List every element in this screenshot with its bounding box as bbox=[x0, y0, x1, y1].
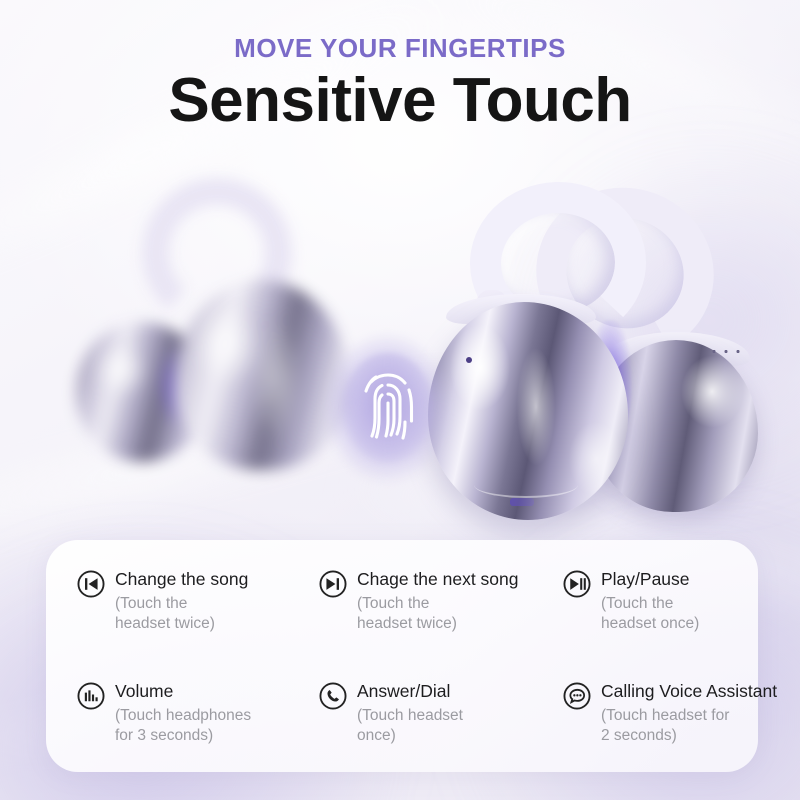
feature-item-voice-assistant: Calling Voice Assistant (Touch headset f… bbox=[562, 680, 777, 745]
feature-label: Play/Pause bbox=[601, 569, 690, 589]
feature-item-volume: Volume (Touch headphones for 3 seconds) bbox=[76, 680, 318, 745]
eyebrow-text: MOVE YOUR FINGERTIPS bbox=[0, 34, 800, 63]
voice-assistant-icon bbox=[562, 681, 592, 711]
feature-label: Chage the next song bbox=[357, 569, 519, 589]
product-poster: MOVE YOUR FINGERTIPS Sensitive Touch bbox=[0, 0, 800, 800]
feature-hint: (Touch headset for 2 seconds) bbox=[601, 706, 777, 745]
feature-grid: Change the song (Touch the headset twice… bbox=[76, 568, 732, 745]
previous-track-icon bbox=[76, 569, 106, 599]
feature-hint: (Touch the headset once) bbox=[601, 594, 699, 633]
feature-hint: (Touch headphones for 3 seconds) bbox=[115, 706, 251, 745]
feature-label: Calling Voice Assistant bbox=[601, 681, 777, 701]
feature-text: Chage the next song (Touch the headset t… bbox=[357, 568, 519, 633]
earbud-pair-foreground bbox=[418, 182, 758, 522]
earbud-body bbox=[174, 280, 350, 470]
microphone-hole bbox=[466, 357, 472, 363]
play-pause-icon bbox=[562, 569, 592, 599]
volume-icon bbox=[76, 681, 106, 711]
feature-label: Answer/Dial bbox=[357, 681, 450, 701]
phone-icon bbox=[318, 681, 348, 711]
feature-item-next-song: Chage the next song (Touch the headset t… bbox=[318, 568, 562, 680]
feature-item-answer-dial: Answer/Dial (Touch headset once) bbox=[318, 680, 562, 745]
feature-text: Change the song (Touch the headset twice… bbox=[115, 568, 248, 633]
page-title: Sensitive Touch bbox=[0, 67, 800, 135]
feature-hint: (Touch headset once) bbox=[357, 706, 463, 745]
feature-card: Change the song (Touch the headset twice… bbox=[46, 540, 758, 772]
feature-item-play-pause: Play/Pause (Touch the headset once) bbox=[562, 568, 777, 680]
feature-text: Answer/Dial (Touch headset once) bbox=[357, 680, 463, 745]
feature-item-change-the-song: Change the song (Touch the headset twice… bbox=[76, 568, 318, 680]
touch-indicator bbox=[330, 335, 446, 481]
feature-hint: (Touch the headset twice) bbox=[115, 594, 248, 633]
feature-label: Change the song bbox=[115, 569, 248, 589]
feature-hint: (Touch the headset twice) bbox=[357, 594, 519, 633]
base-marking bbox=[510, 498, 534, 506]
feature-text: Play/Pause (Touch the headset once) bbox=[601, 568, 699, 633]
headline-block: MOVE YOUR FINGERTIPS Sensitive Touch bbox=[0, 34, 800, 135]
speaker-vents bbox=[710, 348, 742, 355]
next-track-icon bbox=[318, 569, 348, 599]
feature-text: Volume (Touch headphones for 3 seconds) bbox=[115, 680, 251, 745]
feature-label: Volume bbox=[115, 681, 173, 701]
feature-text: Calling Voice Assistant (Touch headset f… bbox=[601, 680, 777, 745]
body-highlight bbox=[474, 472, 578, 498]
fingerprint-icon bbox=[356, 363, 420, 447]
